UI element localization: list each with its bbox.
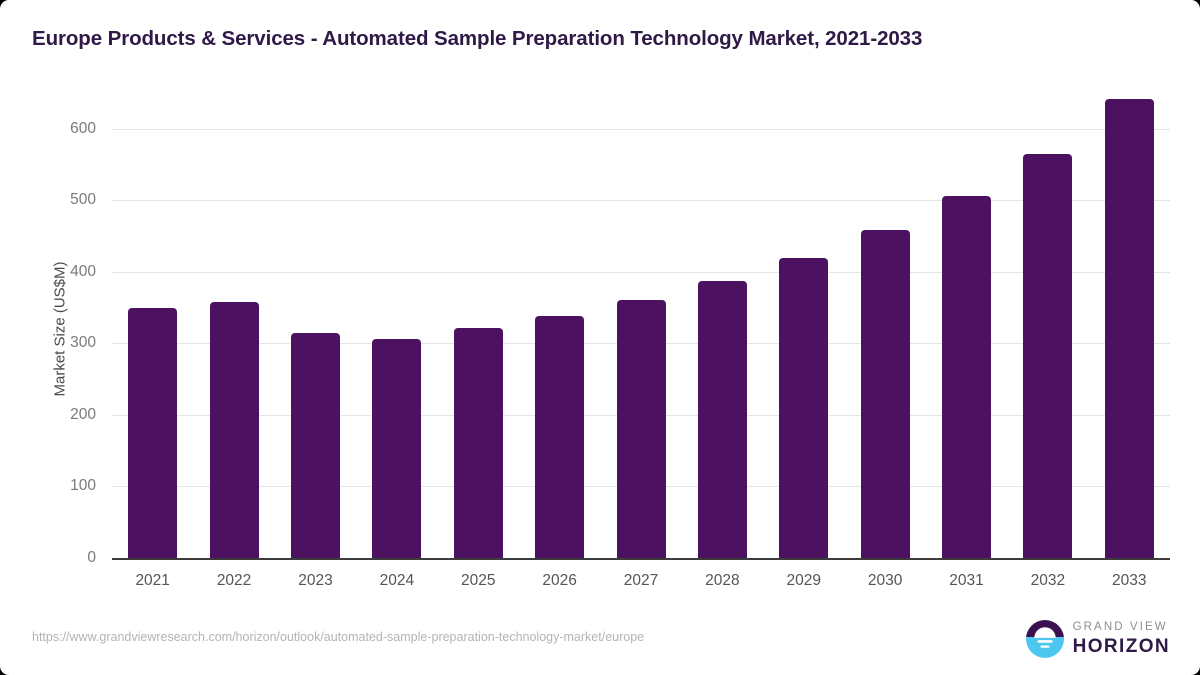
- bar[interactable]: [372, 339, 421, 558]
- y-axis-tick-label: 0: [36, 549, 96, 567]
- bar[interactable]: [942, 196, 991, 558]
- logo-wordmark: GRAND VIEW HORIZON: [1073, 622, 1170, 656]
- source-url-text: https://www.grandviewresearch.com/horizo…: [32, 630, 644, 644]
- bar[interactable]: [698, 281, 747, 558]
- y-axis-title: Market Size (US$M): [52, 179, 69, 479]
- bar[interactable]: [454, 328, 503, 558]
- bar[interactable]: [128, 308, 177, 558]
- page-title: Europe Products & Services - Automated S…: [32, 27, 922, 51]
- logo-line-horizon: HORIZON: [1073, 637, 1170, 656]
- bar[interactable]: [779, 258, 828, 558]
- brand-logo: GRAND VIEW HORIZON: [1026, 620, 1170, 658]
- logo-line-grand-view: GRAND VIEW: [1073, 622, 1170, 634]
- y-axis-tick-label: 500: [36, 191, 96, 209]
- bar[interactable]: [535, 316, 584, 558]
- x-axis-line: [112, 558, 1170, 560]
- y-axis-tick-label: 100: [36, 477, 96, 495]
- y-axis-tick-label: 300: [36, 334, 96, 352]
- x-axis-tick-label: 2033: [1081, 572, 1177, 590]
- plot-area: Market Size (US$M) 0100200300400500600 2…: [112, 100, 1170, 558]
- bar[interactable]: [1023, 154, 1072, 558]
- bar[interactable]: [861, 230, 910, 558]
- y-axis-tick-label: 200: [36, 406, 96, 424]
- bar-series: [112, 100, 1170, 558]
- y-axis-tick-label: 400: [36, 263, 96, 281]
- y-axis-tick-label: 600: [36, 120, 96, 138]
- bar[interactable]: [291, 333, 340, 558]
- chart-page: Europe Products & Services - Automated S…: [0, 0, 1200, 675]
- bar[interactable]: [1105, 99, 1154, 558]
- bar[interactable]: [617, 300, 666, 558]
- horizon-logo-icon: [1026, 620, 1064, 658]
- bar[interactable]: [210, 302, 259, 558]
